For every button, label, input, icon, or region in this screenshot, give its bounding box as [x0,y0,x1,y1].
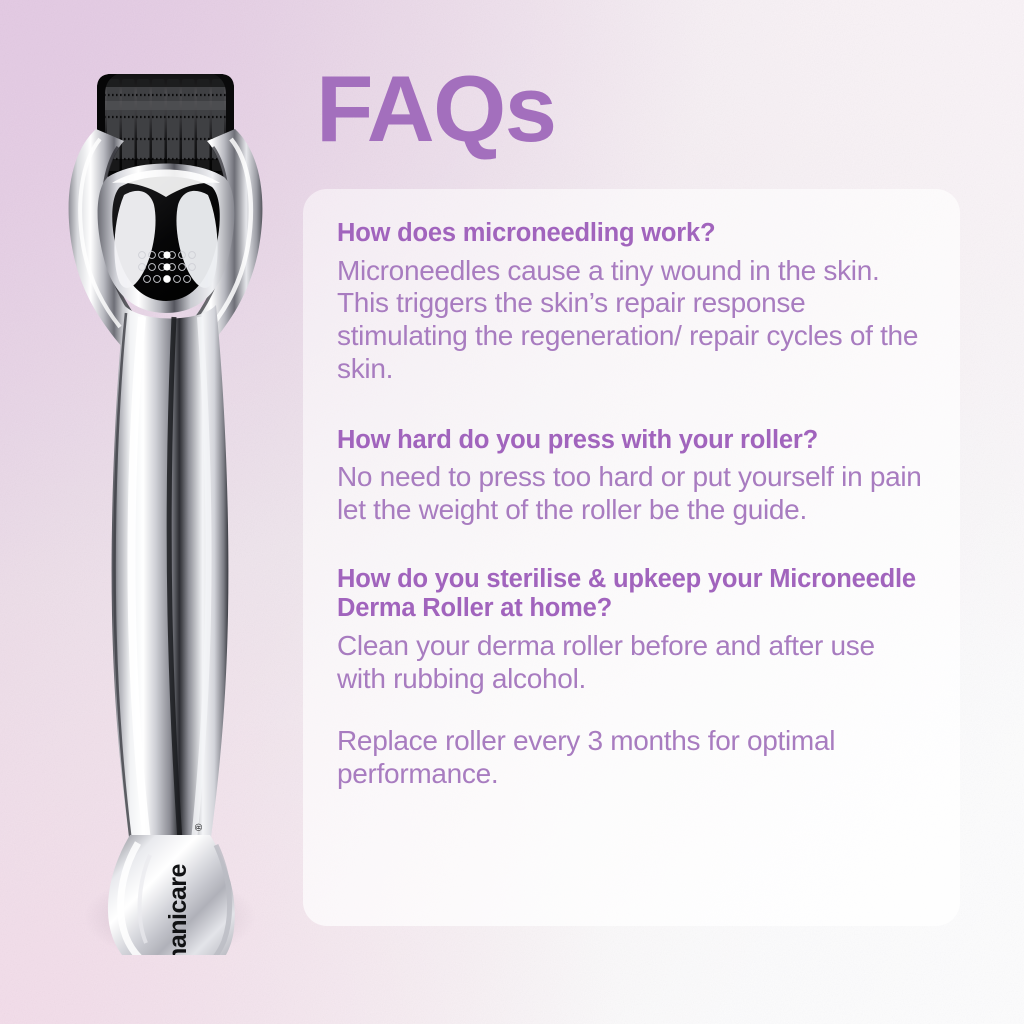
faq-answer-2: No need to press too hard or put yoursel… [337,461,926,527]
derma-roller-product-image: manicare ® [50,55,280,955]
faq-item-2: How hard do you press with your roller? … [337,426,926,527]
faq-question-1: How does microneedling work? [337,219,926,249]
faq-answer-3a: Clean your derma roller before and after… [337,630,926,696]
roller-handle [112,305,229,845]
faq-question-2: How hard do you press with your roller? [337,426,926,456]
needle-indicator-highlights [163,251,170,282]
brand-registered-mark: ® [194,823,205,831]
faq-item-3: How do you sterilise & upkeep your Micro… [337,565,926,791]
faq-card: How does microneedling work? Microneedle… [303,189,960,926]
faq-answer-1: Microneedles cause a tiny wound in the s… [337,255,926,386]
faq-question-3: How do you sterilise & upkeep your Micro… [337,565,926,624]
roller-head [97,74,234,177]
faq-item-1: How does microneedling work? Microneedle… [337,219,926,386]
faq-answer-3b: Replace roller every 3 months for optima… [337,725,926,791]
brand-logo-text: manicare [164,864,192,955]
page-title: FAQs [316,62,556,156]
roller-handle-bulb: manicare ® [108,823,235,955]
page-background: manicare ® FAQs How does microneedling w… [0,0,1024,1024]
